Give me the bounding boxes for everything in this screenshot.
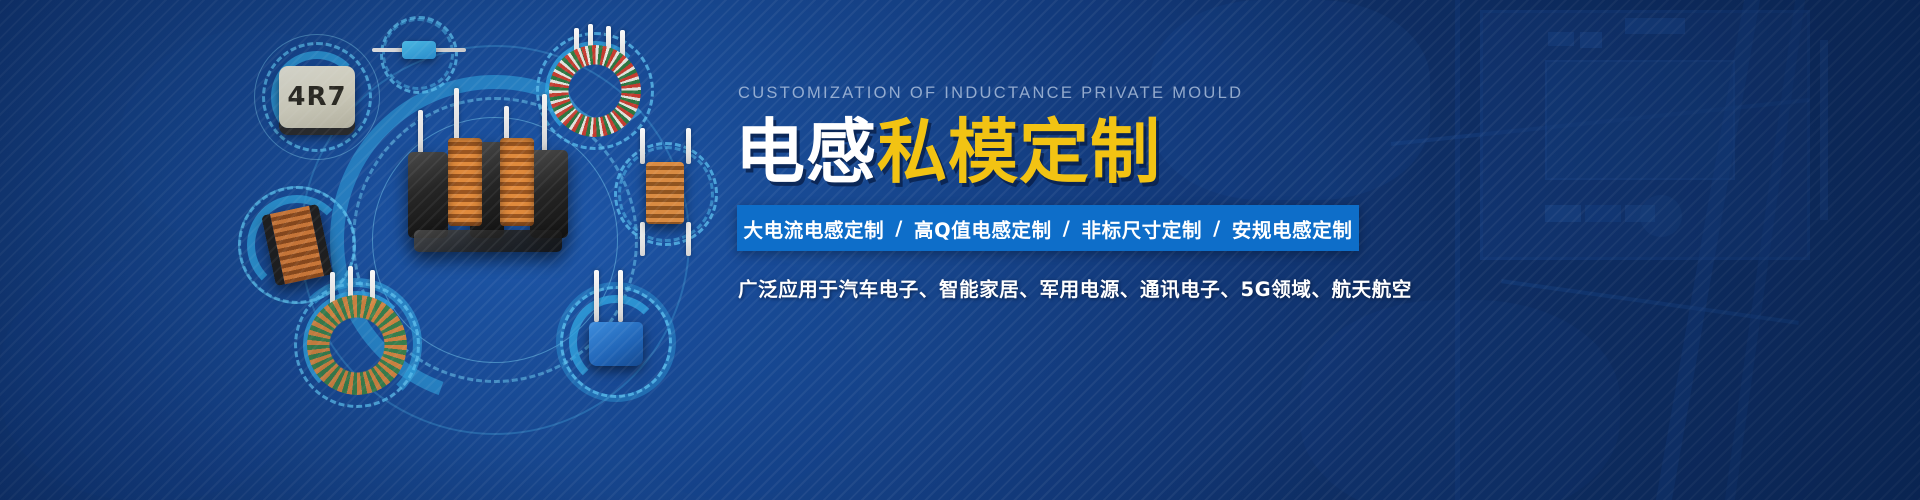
headline-yellow-part: 私模定制 [877,111,1161,193]
feature-item-1[interactable]: 大电流电感定制 [744,214,885,243]
product-rod-core-choke [614,142,718,246]
product-common-mode-choke-large [408,112,568,248]
banner-text-block: CUSTOMIZATION OF INDUCTANCE PRIVATE MOUL… [735,84,1375,302]
feature-item-4[interactable]: 安规电感定制 [1232,214,1353,243]
feature-separator-1: / [884,217,914,240]
rod-choke-body [646,162,684,224]
headline-white-part: 电感 [735,111,877,193]
smd-inductor-body: 4R7 [279,66,355,128]
smd-inductor-marking: 4R7 [287,82,346,112]
product-smd-power-inductor: 4R7 [262,42,372,152]
promo-banner: 4R7 [0,0,1920,500]
banner-headline: 电感私模定制 [735,113,1375,191]
banner-description: 广泛应用于汽车电子、智能家居、军用电源、通讯电子、5G领域、航天航空 [738,273,1375,302]
feature-list: 大电流电感定制 / 高Q值电感定制 / 非标尺寸定制 / 安规电感定制 [744,214,1353,243]
product-radial-lead-inductor-blue [560,286,672,398]
product-axial-lead-inductor [380,16,458,94]
axial-inductor-body [402,41,436,59]
feature-item-3[interactable]: 非标尺寸定制 [1082,214,1203,243]
blue-inductor-body [589,322,643,366]
feature-separator-2: / [1052,217,1082,240]
product-toroidal-inductor-green [294,282,420,408]
banner-eyebrow: CUSTOMIZATION OF INDUCTANCE PRIVATE MOUL… [738,84,1375,103]
feature-separator-3: / [1202,217,1232,240]
feature-bar: 大电流电感定制 / 高Q值电感定制 / 非标尺寸定制 / 安规电感定制 [737,205,1359,251]
feature-item-2[interactable]: 高Q值电感定制 [914,214,1052,243]
